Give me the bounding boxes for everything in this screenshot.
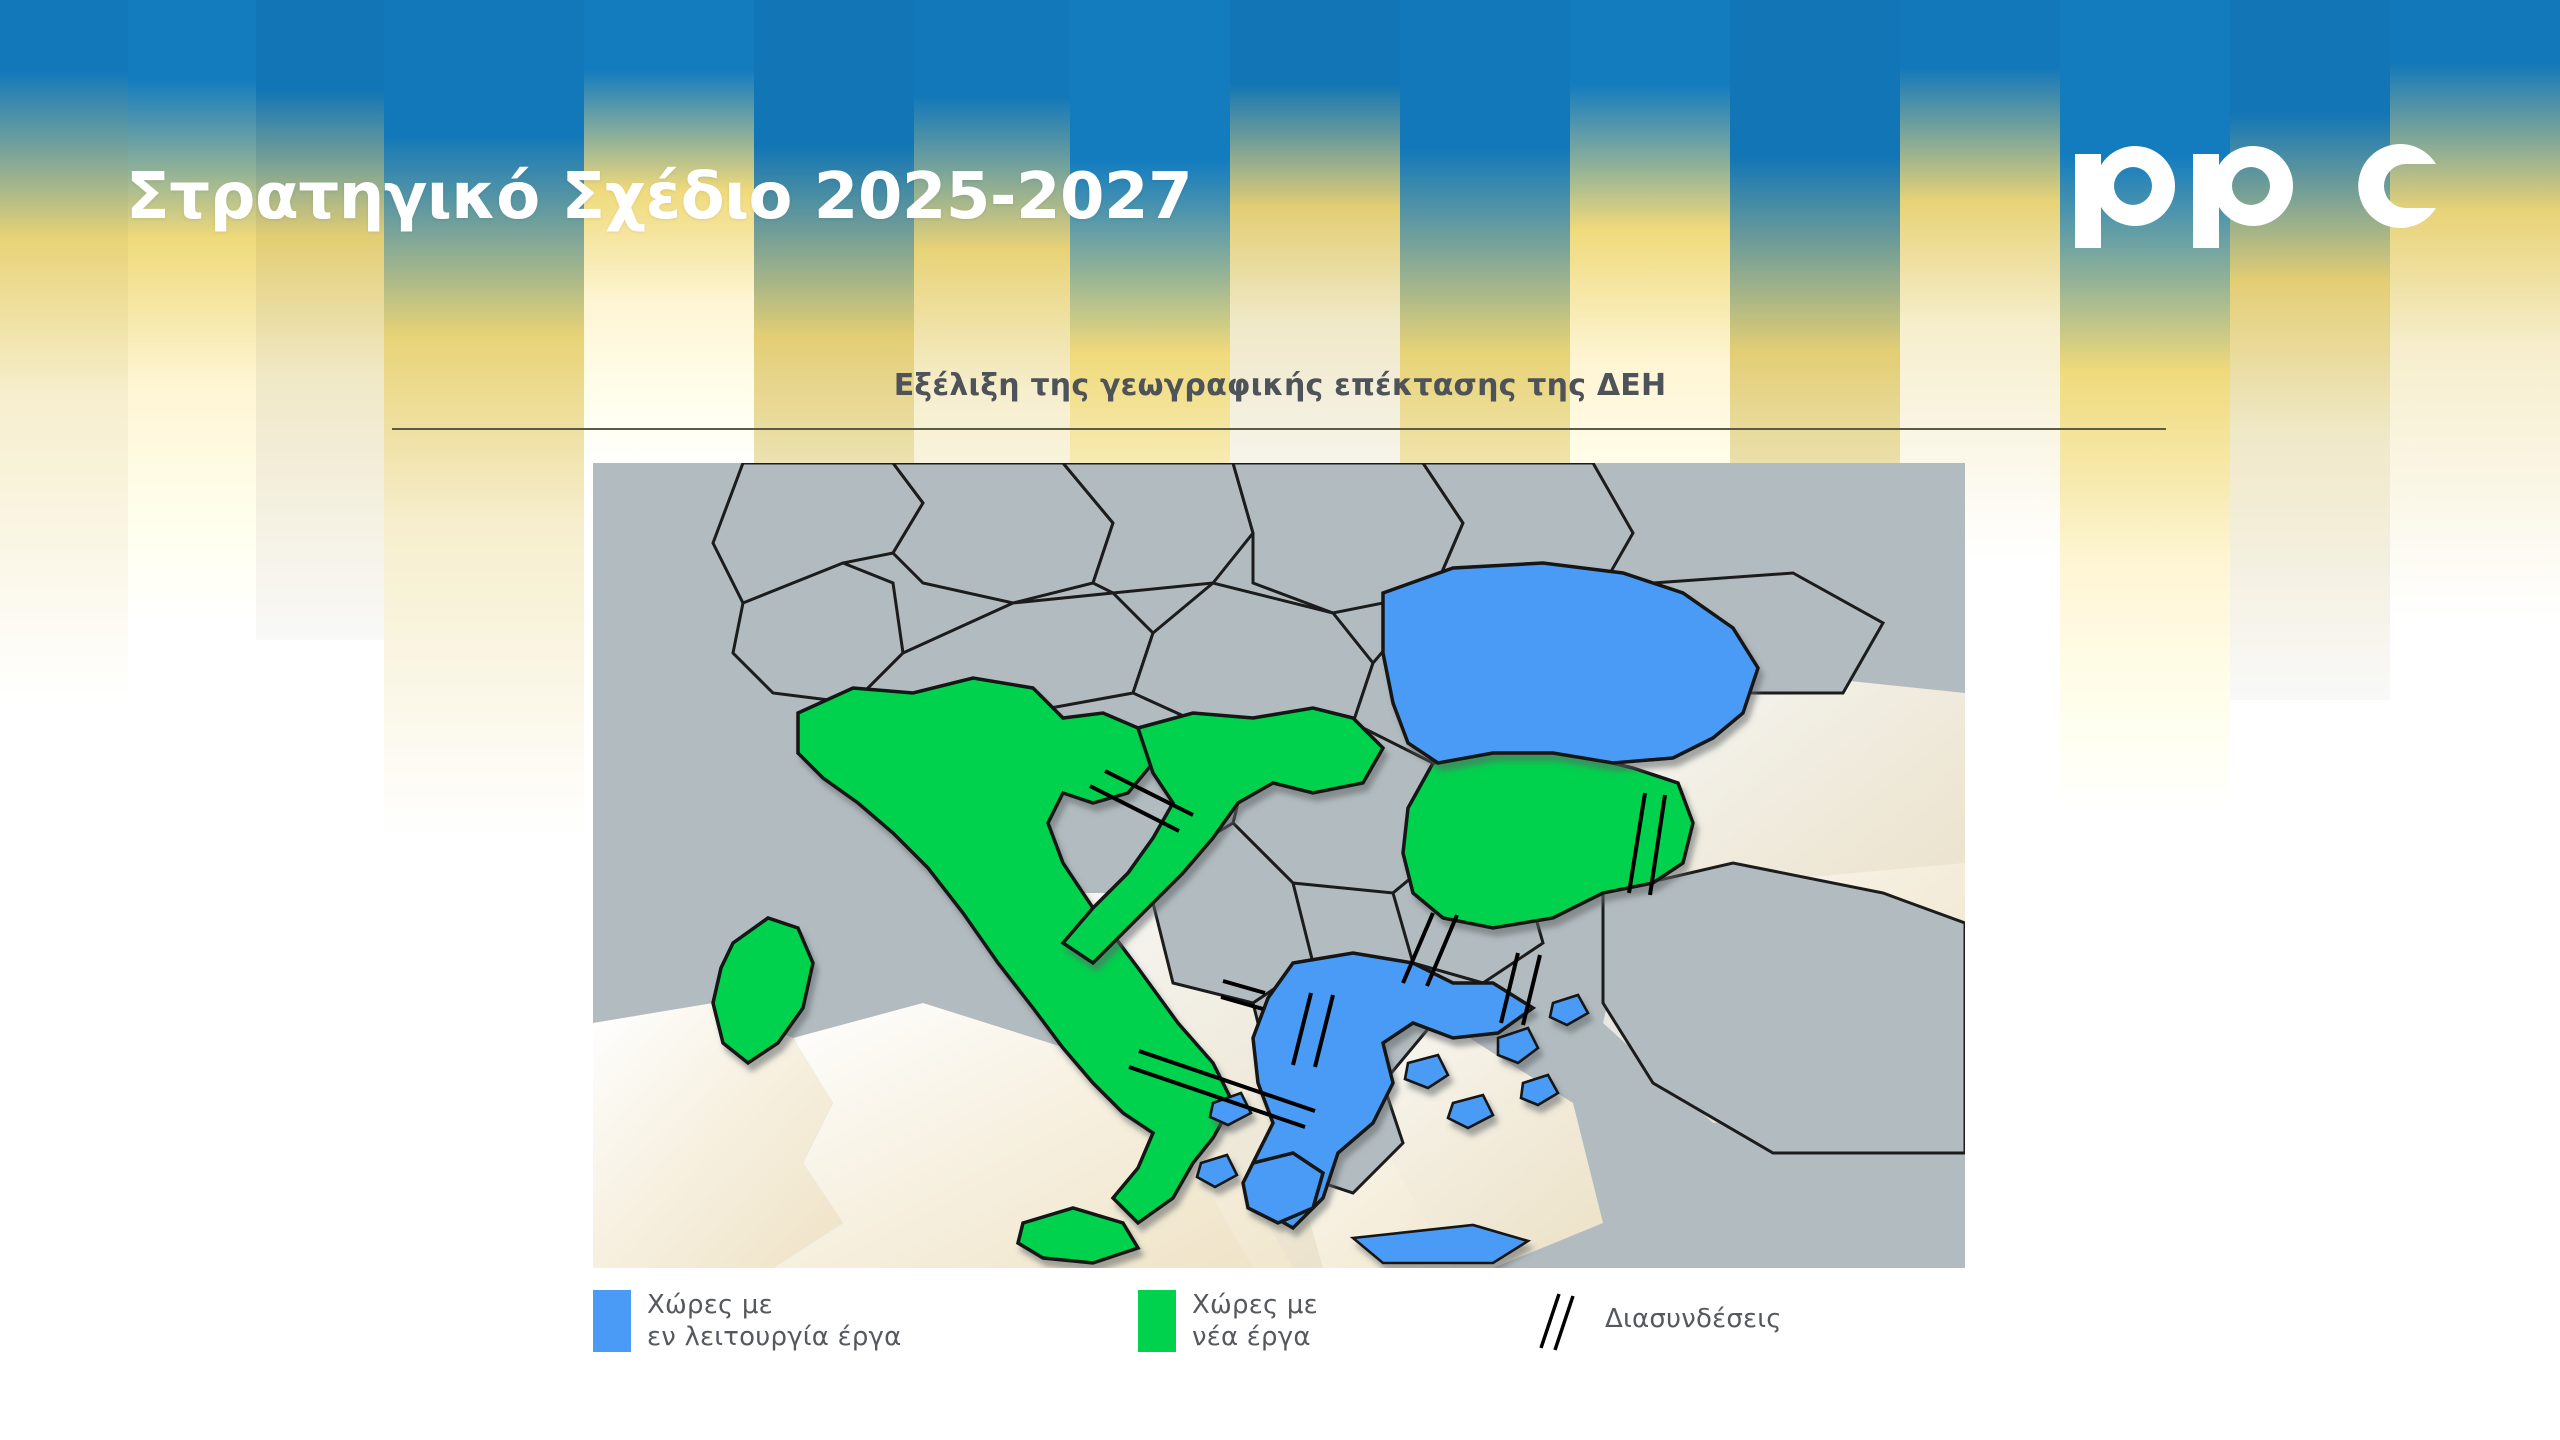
legend-item-interconnections: Διασυνδέσεις — [1533, 1290, 1782, 1354]
bg-band-15 — [2390, 0, 2560, 620]
legend-label-operating: Χώρες με εν λειτουργία έργα — [647, 1290, 901, 1353]
bg-band-3 — [384, 0, 584, 840]
chart-subtitle: Εξέλιξη της γεωγραφικής επέκτασης της ΔΕ… — [0, 368, 2560, 403]
ppc-logo — [2065, 118, 2445, 248]
map-legend: Χώρες με εν λειτουργία έργα Χώρες με νέα… — [593, 1290, 1965, 1380]
europe-expansion-map — [593, 463, 1965, 1268]
bg-band-4 — [584, 0, 754, 500]
bg-band-14 — [2230, 0, 2390, 700]
bg-band-2 — [256, 0, 384, 640]
legend-label-new: Χώρες με νέα έργα — [1192, 1290, 1318, 1353]
bg-band-0 — [0, 0, 128, 700]
legend-item-operating: Χώρες με εν λειτουργία έργα — [593, 1290, 901, 1353]
subtitle-divider — [392, 428, 2166, 430]
legend-item-new: Χώρες με νέα έργα — [1138, 1290, 1318, 1353]
legend-swatch-blue — [593, 1290, 631, 1352]
legend-label-interconnections: Διασυνδέσεις — [1605, 1290, 1782, 1336]
legend-swatch-green — [1138, 1290, 1176, 1352]
bg-band-8 — [1230, 0, 1400, 520]
bg-band-1 — [128, 0, 256, 660]
interconnection-lines-icon — [1533, 1290, 1583, 1354]
page-title: Στρατηγικό Σχέδιο 2025-2027 — [126, 160, 1192, 234]
